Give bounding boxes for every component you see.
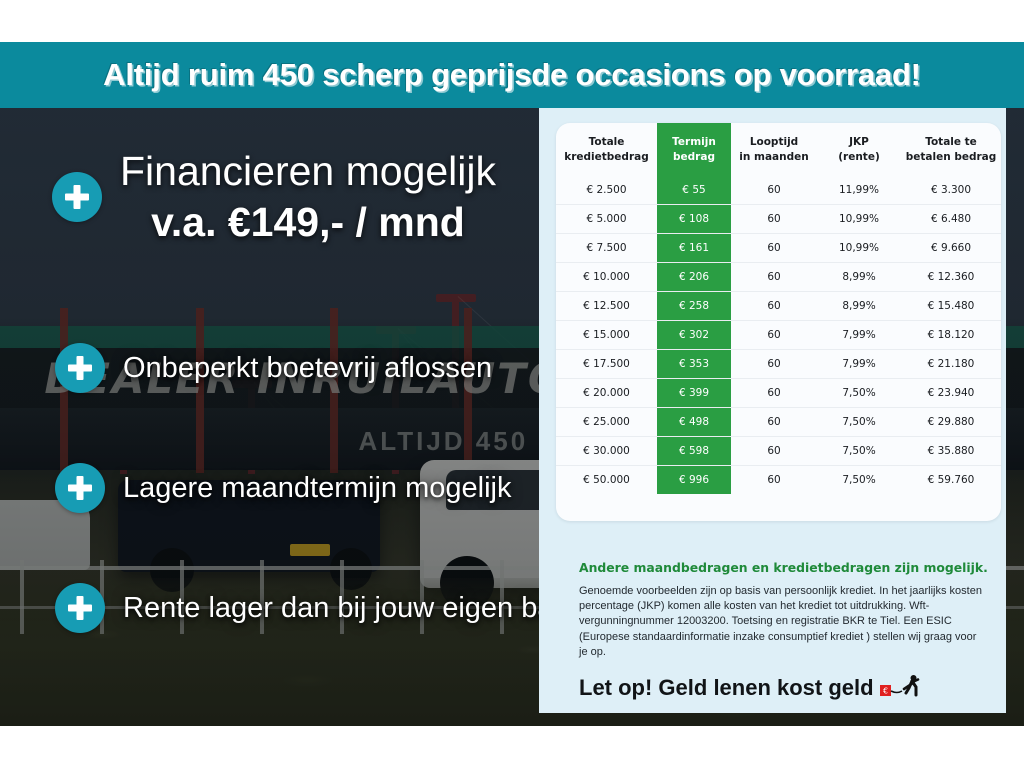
cell-looptijd: 60 — [731, 291, 817, 320]
cell-krediet: € 5.000 — [556, 204, 657, 233]
cell-jkp: 11,99% — [817, 175, 901, 204]
cell-jkp: 8,99% — [817, 262, 901, 291]
plus-icon — [55, 343, 105, 393]
th-krediet: Totale kredietbedrag — [556, 123, 657, 175]
cell-termijn: € 161 — [657, 233, 731, 262]
th-totaal-l2: betalen bedrag — [906, 151, 997, 163]
bottom-white-strip — [0, 726, 1024, 768]
top-white-strip — [0, 0, 1024, 42]
cell-termijn: € 258 — [657, 291, 731, 320]
rates-table-body: € 2.500€ 556011,99%€ 3.300€ 5.000€ 10860… — [556, 175, 1001, 494]
cell-krediet: € 17.500 — [556, 349, 657, 378]
cell-termijn: € 206 — [657, 262, 731, 291]
cell-totaal: € 59.760 — [901, 465, 1001, 494]
cell-jkp: 8,99% — [817, 291, 901, 320]
cell-totaal: € 23.940 — [901, 378, 1001, 407]
table-row: € 10.000€ 206608,99%€ 12.360 — [556, 262, 1001, 291]
svg-text:€: € — [883, 687, 888, 696]
financing-line-1: Financieren mogelijk — [120, 148, 496, 195]
cell-totaal: € 29.880 — [901, 407, 1001, 436]
cell-looptijd: 60 — [731, 378, 817, 407]
loan-warning-text: Let op! Geld lenen kost geld — [579, 675, 874, 701]
cell-termijn: € 399 — [657, 378, 731, 407]
th-looptijd-l2: in maanden — [739, 151, 808, 163]
cell-termijn: € 353 — [657, 349, 731, 378]
cell-krediet: € 30.000 — [556, 436, 657, 465]
table-row: € 15.000€ 302607,99%€ 18.120 — [556, 320, 1001, 349]
cell-krediet: € 50.000 — [556, 465, 657, 494]
benefit-label: Onbeperkt boetevrij aflossen — [123, 352, 492, 385]
benefit-item: Rente lager dan bij jouw eigen bank — [55, 583, 584, 633]
financing-text-stack: Financieren mogelijk v.a. €149,- / mnd — [120, 148, 496, 246]
th-looptijd-l1: Looptijd — [750, 136, 798, 148]
cell-looptijd: 60 — [731, 262, 817, 291]
table-row: € 50.000€ 996607,50%€ 59.760 — [556, 465, 1001, 494]
table-row: € 7.500€ 1616010,99%€ 9.660 — [556, 233, 1001, 262]
th-jkp-l1: JKP — [849, 136, 869, 148]
cell-termijn: € 55 — [657, 175, 731, 204]
cell-jkp: 10,99% — [817, 204, 901, 233]
th-totaal-l1: Totale te — [925, 136, 977, 148]
note-title: Andere maandbedragen en kredietbedragen … — [579, 560, 989, 575]
cell-looptijd: 60 — [731, 320, 817, 349]
cell-jkp: 7,50% — [817, 378, 901, 407]
cell-krediet: € 25.000 — [556, 407, 657, 436]
cell-krediet: € 20.000 — [556, 378, 657, 407]
cell-looptijd: 60 — [731, 465, 817, 494]
th-looptijd: Looptijd in maanden — [731, 123, 817, 175]
table-row: € 2.500€ 556011,99%€ 3.300 — [556, 175, 1001, 204]
cell-krediet: € 2.500 — [556, 175, 657, 204]
cell-looptijd: 60 — [731, 436, 817, 465]
cell-totaal: € 12.360 — [901, 262, 1001, 291]
plus-icon — [55, 583, 105, 633]
headline-text: Altijd ruim 450 scherp geprijsde occasio… — [103, 57, 921, 93]
rates-table-card: Totale kredietbedrag Termijn bedrag Loop… — [556, 123, 1001, 521]
cell-totaal: € 9.660 — [901, 233, 1001, 262]
cell-looptijd: 60 — [731, 204, 817, 233]
th-krediet-l2: kredietbedrag — [564, 151, 648, 163]
rates-table: Totale kredietbedrag Termijn bedrag Loop… — [556, 123, 1001, 494]
financing-line-2: v.a. €149,- / mnd — [120, 199, 496, 246]
th-krediet-l1: Totale — [589, 136, 625, 148]
cell-jkp: 7,50% — [817, 407, 901, 436]
th-termijn-l2: bedrag — [673, 151, 715, 163]
cell-jkp: 7,99% — [817, 349, 901, 378]
money-running-man-icon: € — [880, 674, 924, 702]
headline-banner: Altijd ruim 450 scherp geprijsde occasio… — [0, 42, 1024, 108]
cell-totaal: € 35.880 — [901, 436, 1001, 465]
table-row: € 20.000€ 399607,50%€ 23.940 — [556, 378, 1001, 407]
cell-termijn: € 996 — [657, 465, 731, 494]
cell-totaal: € 21.180 — [901, 349, 1001, 378]
cell-krediet: € 10.000 — [556, 262, 657, 291]
benefit-label: Lagere maandtermijn mogelijk — [123, 472, 511, 505]
th-totaal: Totale te betalen bedrag — [901, 123, 1001, 175]
benefit-financing: Financieren mogelijk v.a. €149,- / mnd — [52, 148, 496, 246]
loan-warning: Let op! Geld lenen kost geld € — [579, 672, 991, 704]
th-jkp-l2: (rente) — [838, 151, 880, 163]
table-row: € 30.000€ 598607,50%€ 35.880 — [556, 436, 1001, 465]
cell-termijn: € 498 — [657, 407, 731, 436]
cell-termijn: € 598 — [657, 436, 731, 465]
cell-totaal: € 6.480 — [901, 204, 1001, 233]
cell-jkp: 7,50% — [817, 465, 901, 494]
cell-looptijd: 60 — [731, 407, 817, 436]
cell-looptijd: 60 — [731, 349, 817, 378]
plus-icon — [55, 463, 105, 513]
th-jkp: JKP (rente) — [817, 123, 901, 175]
cell-totaal: € 3.300 — [901, 175, 1001, 204]
advertisement-canvas: Altijd ruim 450 scherp geprijsde occasio… — [0, 0, 1024, 768]
th-termijn-l1: Termijn — [672, 136, 716, 148]
cell-totaal: € 18.120 — [901, 320, 1001, 349]
cell-termijn: € 108 — [657, 204, 731, 233]
cell-jkp: 7,50% — [817, 436, 901, 465]
benefits-list: Financieren mogelijk v.a. €149,- / mnd O… — [0, 108, 545, 726]
table-row: € 17.500€ 353607,99%€ 21.180 — [556, 349, 1001, 378]
plus-icon — [52, 172, 102, 222]
cell-looptijd: 60 — [731, 175, 817, 204]
cell-jkp: 10,99% — [817, 233, 901, 262]
table-header-row: Totale kredietbedrag Termijn bedrag Loop… — [556, 123, 1001, 175]
table-row: € 25.000€ 498607,50%€ 29.880 — [556, 407, 1001, 436]
cell-krediet: € 15.000 — [556, 320, 657, 349]
table-row: € 5.000€ 1086010,99%€ 6.480 — [556, 204, 1001, 233]
cell-looptijd: 60 — [731, 233, 817, 262]
cell-termijn: € 302 — [657, 320, 731, 349]
benefit-item: Onbeperkt boetevrij aflossen — [55, 343, 492, 393]
cell-krediet: € 12.500 — [556, 291, 657, 320]
benefit-item: Lagere maandtermijn mogelijk — [55, 463, 511, 513]
cell-jkp: 7,99% — [817, 320, 901, 349]
note-body: Genoemde voorbeelden zijn op basis van p… — [579, 584, 985, 660]
table-row: € 12.500€ 258608,99%€ 15.480 — [556, 291, 1001, 320]
rates-table-head: Totale kredietbedrag Termijn bedrag Loop… — [556, 123, 1001, 175]
th-termijn: Termijn bedrag — [657, 123, 731, 175]
cell-krediet: € 7.500 — [556, 233, 657, 262]
benefit-label: Rente lager dan bij jouw eigen bank — [123, 592, 584, 625]
cell-totaal: € 15.480 — [901, 291, 1001, 320]
